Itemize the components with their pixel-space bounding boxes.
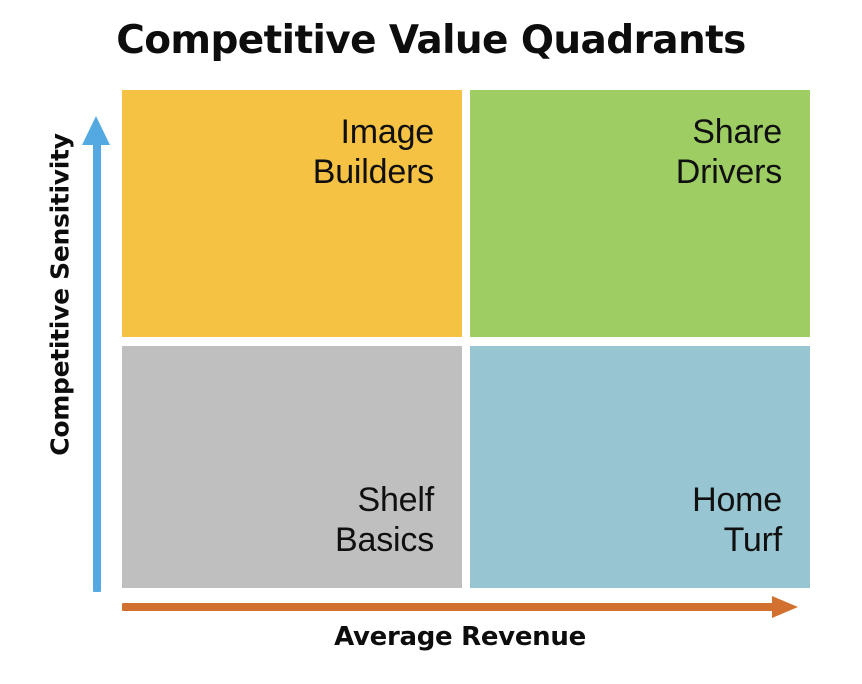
y-axis-arrow-icon (82, 116, 110, 592)
quadrant-home-turf[interactable]: Home Turf (470, 346, 810, 588)
x-axis-arrow-icon (122, 596, 798, 618)
y-axis-label: Competitive Sensitivity (46, 85, 75, 505)
y-axis-shaft (93, 142, 101, 592)
quadrant-label-shelf-basics: Shelf Basics (335, 480, 434, 560)
y-axis-arrowhead-icon (82, 116, 110, 145)
quadrant-share-drivers[interactable]: Share Drivers (470, 90, 810, 337)
quadrant-shelf-basics[interactable]: Shelf Basics (122, 346, 462, 588)
quadrant-image-builders[interactable]: Image Builders (122, 90, 462, 337)
x-axis-arrowhead-icon (772, 596, 798, 618)
quadrant-label-image-builders: Image Builders (152, 112, 434, 192)
quadrant-label-home-turf: Home Turf (692, 480, 782, 560)
quadrant-grid: Image Builders Share Drivers Shelf Basic… (122, 90, 810, 588)
x-axis-label: Average Revenue (122, 622, 798, 652)
quadrant-label-share-drivers: Share Drivers (500, 112, 782, 192)
x-axis-shaft (122, 603, 774, 611)
quadrant-chart: Competitive Value Quadrants Image Builde… (0, 0, 862, 684)
page-title: Competitive Value Quadrants (0, 18, 862, 64)
